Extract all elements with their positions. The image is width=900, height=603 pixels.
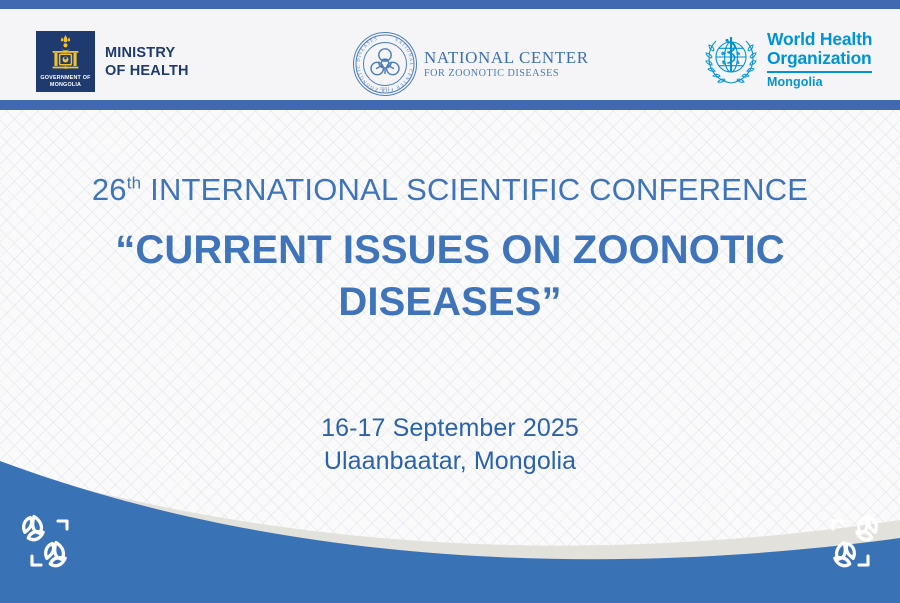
who-underline-rule — [767, 71, 872, 73]
bottom-wave-decoration — [0, 458, 900, 603]
government-emblem-caption: GOVERNMENT OF MONGOLIA — [36, 75, 95, 89]
emblem-caption-line-2: MONGOLIA — [36, 82, 95, 89]
nczd-name-line-2: FOR ZOONOTIC DISEASES — [424, 69, 589, 80]
wave-blue-layer — [0, 461, 900, 603]
who-name-line-1: World Health — [767, 30, 872, 49]
soyombo-emblem-icon — [36, 33, 95, 73]
theme-line-2: DISEASES” — [60, 276, 840, 328]
event-dates: 16-17 September 2025 — [0, 412, 900, 445]
conference-heading: 26th INTERNATIONAL SCIENTIFIC CONFERENCE — [0, 170, 900, 210]
who-country-label: Mongolia — [767, 76, 872, 89]
mongolian-knot-ornament-left — [14, 509, 84, 575]
header-separator-bar — [0, 100, 900, 110]
conference-number: 26 — [92, 172, 127, 207]
who-emblem-icon — [703, 31, 759, 87]
mongolian-knot-ornament-right — [816, 509, 886, 575]
who-mongolia-logo: World Health Organization Mongolia — [703, 30, 872, 89]
nczd-name-line-1: NATIONAL CENTER — [424, 49, 589, 67]
ministry-of-health-wordmark: MINISTRY OF HEALTH — [105, 44, 189, 80]
conference-label: INTERNATIONAL SCIENTIFIC CONFERENCE — [150, 172, 808, 207]
ministry-name-line-1: MINISTRY — [105, 44, 189, 62]
emblem-caption-line-1: GOVERNMENT OF — [36, 75, 95, 82]
biohazard-seal-icon: NATIONAL CENTER FOR ZOONOTIC DISEASES 19… — [352, 31, 418, 97]
nczd-wordmark: NATIONAL CENTER FOR ZOONOTIC DISEASES — [424, 49, 589, 80]
title-block: 26th INTERNATIONAL SCIENTIFIC CONFERENCE… — [0, 170, 900, 328]
conference-title-slide: GOVERNMENT OF MONGOLIA MINISTRY OF HEALT… — [0, 0, 900, 603]
top-accent-bar — [0, 0, 900, 9]
national-center-zoonotic-diseases-logo: NATIONAL CENTER FOR ZOONOTIC DISEASES 19… — [352, 31, 589, 97]
conference-theme: “CURRENT ISSUES ON ZOONOTIC DISEASES” — [0, 224, 900, 328]
ministry-name-line-2: OF HEALTH — [105, 62, 189, 80]
mongolia-government-emblem: GOVERNMENT OF MONGOLIA — [36, 31, 95, 92]
logo-header-band: GOVERNMENT OF MONGOLIA MINISTRY OF HEALT… — [0, 9, 900, 100]
ministry-of-health-logo: GOVERNMENT OF MONGOLIA MINISTRY OF HEALT… — [36, 31, 189, 92]
theme-line-1: “CURRENT ISSUES ON ZOONOTIC — [60, 224, 840, 276]
svg-text:1951: 1951 — [380, 86, 390, 91]
conference-ordinal-suffix: th — [127, 174, 142, 193]
who-name-line-2: Organization — [767, 49, 872, 68]
who-wordmark: World Health Organization Mongolia — [767, 30, 872, 89]
